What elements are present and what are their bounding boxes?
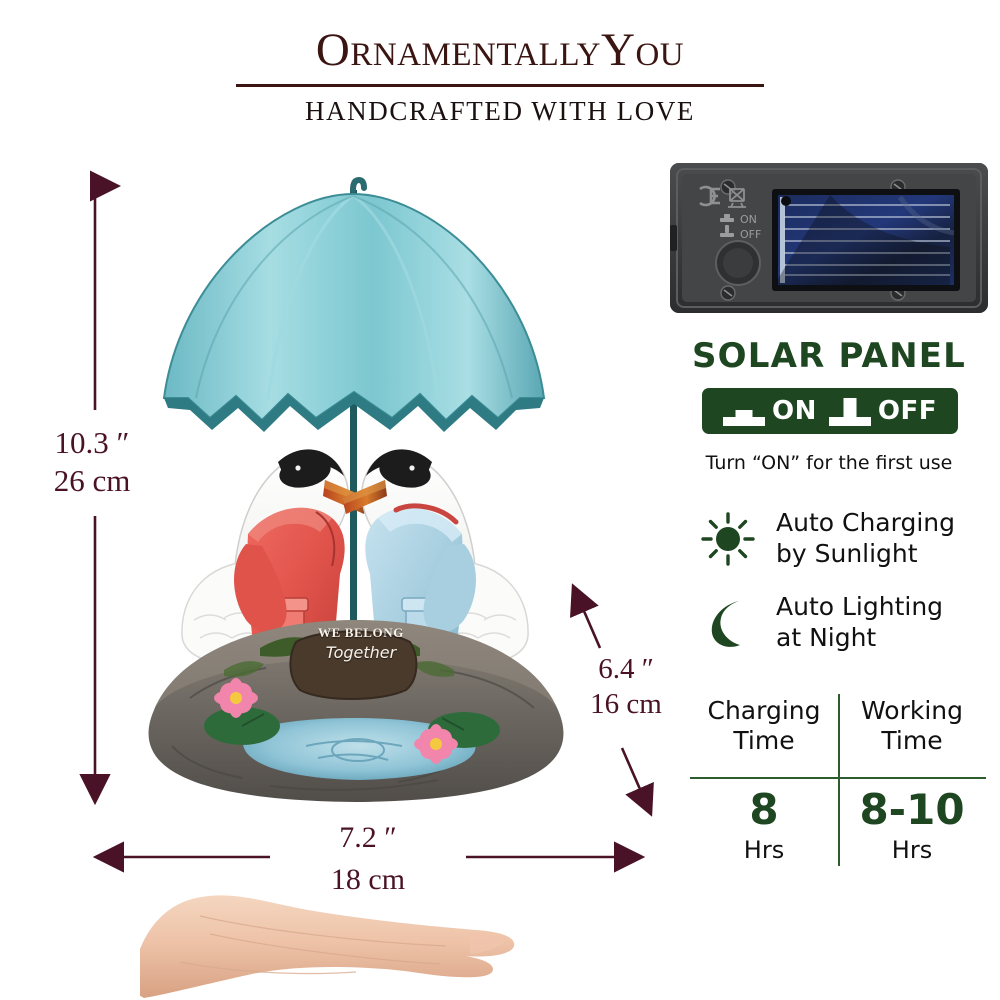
charging-time-unit: Hrs [690,838,838,862]
dimension-height: 10.3 ″ 26 cm [8,424,176,500]
feature-auto-charging: Auto Charging by Sunlight [700,508,1000,569]
working-time-header: Working Time [838,696,986,755]
table-horizontal-divider [690,777,986,779]
feature-1-line-2: by Sunlight [776,539,918,568]
dimension-width-inches: 7.2 ″ [268,820,468,857]
solar-panel-photo: ON OFF [670,163,988,313]
working-time-unit: Hrs [838,838,986,862]
dimension-depth: 6.4 ″ 16 cm [560,652,692,723]
charging-head-line-2: Time [733,726,794,755]
on-off-badge: ON OFF [702,388,958,434]
first-use-note: Turn “ON” for the first use [670,452,988,474]
brand-header: OrnamentallyYou HANDCRAFTED WITH LOVE [0,26,1000,127]
charging-time-header: Charging Time [690,696,838,755]
brand-tagline: HANDCRAFTED WITH LOVE [0,96,1000,127]
charging-time-value: 8 [690,789,838,831]
switch-off-icon [829,396,871,426]
solar-panel-title: SOLAR PANEL [670,336,988,376]
moon-icon [700,595,756,651]
switch-on-label: ON [772,398,817,424]
brand-title: OrnamentallyYou [0,26,1000,75]
depth-inches: 6.4 ″ [560,652,692,687]
switch-on-group: ON [723,396,817,426]
feature-2-line-1: Auto Lighting [776,592,943,621]
plaque-line-2: Together [306,643,416,662]
dimension-width-cm: 18 cm [268,862,468,899]
depth-cm: 16 cm [560,687,692,722]
working-head-line-1: Working [861,696,963,725]
panel-on-label: ON [740,213,757,226]
height-inches: 10.3 ″ [8,424,176,462]
brand-divider [236,84,764,87]
charging-head-line-1: Charging [708,696,821,725]
feature-auto-lighting-text: Auto Lighting at Night [776,592,943,653]
switch-off-group: OFF [829,396,937,426]
working-time-value: 8-10 [838,789,986,831]
feature-1-line-1: Auto Charging [776,508,955,537]
plaque-line-1: WE BELONG [306,625,416,641]
sun-icon [700,511,756,567]
infographic-page: OrnamentallyYou HANDCRAFTED WITH LOVE [0,0,1000,1000]
height-cm: 26 cm [8,462,176,500]
working-head-line-2: Time [881,726,942,755]
panel-off-label: OFF [740,228,761,241]
feature-2-line-2: at Night [776,623,876,652]
switch-on-icon [723,396,765,426]
product-illustration [120,150,590,810]
time-table: Charging Time Working Time 8 8-10 Hrs Hr… [690,694,986,866]
feature-auto-charging-text: Auto Charging by Sunlight [776,508,955,569]
switch-off-label: OFF [878,398,937,424]
feature-auto-lighting: Auto Lighting at Night [700,592,1000,653]
